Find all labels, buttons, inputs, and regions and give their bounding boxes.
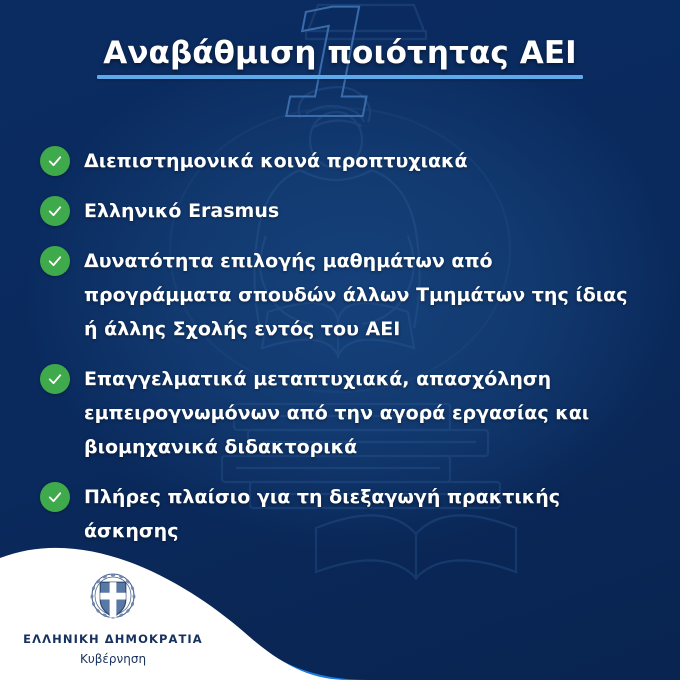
feature-list: Διεπιστημονικά κοινά προπτυχιακά Ελληνικ… — [40, 144, 648, 548]
organization-subtitle: Κυβέρνηση — [18, 652, 208, 666]
poster-title: Αναβάθμιση ποιότητας ΑΕΙ — [97, 34, 583, 79]
check-circle-icon — [40, 246, 70, 276]
check-circle-icon — [40, 146, 70, 176]
list-item-label: Ελληνικό Erasmus — [84, 194, 279, 228]
check-circle-icon — [40, 364, 70, 394]
greek-coat-of-arms-icon — [89, 572, 137, 624]
list-item: Επαγγελματικά μεταπτυχιακά, απασχόληση ε… — [40, 362, 648, 464]
footer-logo-block: ΕΛΛΗΝΙΚΗ ΔΗΜΟΚΡΑΤΙΑ Κυβέρνηση — [18, 572, 208, 666]
poster-title-text: Αναβάθμιση ποιότητας ΑΕΙ — [103, 35, 577, 71]
title-block: Αναβάθμιση ποιότητας ΑΕΙ — [0, 34, 680, 79]
list-item: Δυνατότητα επιλογής μαθημάτων από προγρά… — [40, 244, 648, 346]
list-item-label: Δυνατότητα επιλογής μαθημάτων από προγρά… — [84, 244, 644, 346]
organization-name: ΕΛΛΗΝΙΚΗ ΔΗΜΟΚΡΑΤΙΑ — [18, 633, 208, 647]
check-circle-icon — [40, 196, 70, 226]
list-item-label: Επαγγελματικά μεταπτυχιακά, απασχόληση ε… — [84, 362, 644, 464]
poster-canvas: 1 Αναβάθμιση ποιότητας ΑΕΙ Διεπιστημονικ… — [0, 0, 680, 680]
list-item: Διεπιστημονικά κοινά προπτυχιακά — [40, 144, 648, 178]
list-item-label: Διεπιστημονικά κοινά προπτυχιακά — [84, 144, 468, 178]
check-circle-icon — [40, 482, 70, 512]
title-underline — [97, 75, 583, 79]
list-item: Ελληνικό Erasmus — [40, 194, 648, 228]
